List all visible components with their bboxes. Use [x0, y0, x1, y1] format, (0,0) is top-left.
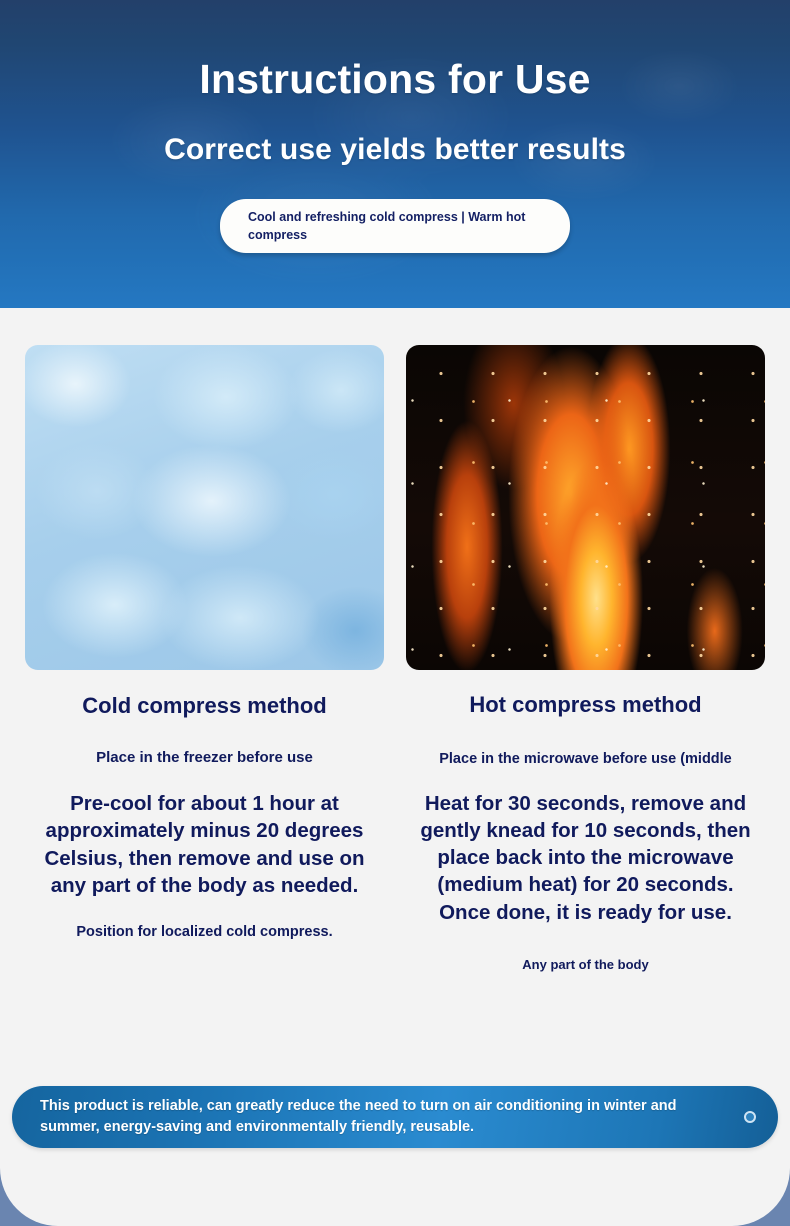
ice-cubes-photo — [25, 345, 384, 670]
header-pill-wrap: Cool and refreshing cold compress | Warm… — [0, 166, 790, 253]
main-content: Cold compress method Place in the freeze… — [0, 345, 790, 973]
page-header: Instructions for Use Correct use yields … — [0, 0, 790, 308]
cold-compress-note: Position for localized cold compress. — [76, 899, 332, 941]
hot-compress-title: Hot compress method — [469, 670, 701, 718]
cold-compress-title: Cold compress method — [82, 670, 326, 719]
circle-badge-icon — [744, 1111, 756, 1123]
fire-flames-photo — [406, 345, 765, 670]
methods-columns: Cold compress method Place in the freeze… — [0, 345, 790, 973]
page-subtitle: Correct use yields better results — [0, 101, 790, 166]
cold-compress-body: Pre-cool for about 1 hour at approximate… — [40, 768, 370, 899]
header-pill-label: Cool and refreshing cold compress | Warm… — [220, 199, 570, 253]
header-content: Instructions for Use Correct use yields … — [0, 0, 790, 253]
footer-banner: This product is reliable, can greatly re… — [12, 1086, 778, 1148]
page-title: Instructions for Use — [0, 0, 790, 101]
hot-compress-column: Hot compress method Place in the microwa… — [406, 345, 765, 973]
cold-compress-column: Cold compress method Place in the freeze… — [25, 345, 384, 973]
hot-compress-body: Heat for 30 seconds, remove and gently k… — [413, 769, 758, 926]
instructions-page: Instructions for Use Correct use yields … — [0, 0, 790, 1226]
footer-banner-text: This product is reliable, can greatly re… — [40, 1096, 724, 1138]
hot-compress-note: Any part of the body — [522, 926, 648, 973]
hot-compress-step: Place in the microwave before use (middl… — [439, 718, 732, 768]
cold-compress-step: Place in the freezer before use — [96, 719, 313, 768]
footer-banner-wrap: This product is reliable, can greatly re… — [12, 1086, 778, 1148]
